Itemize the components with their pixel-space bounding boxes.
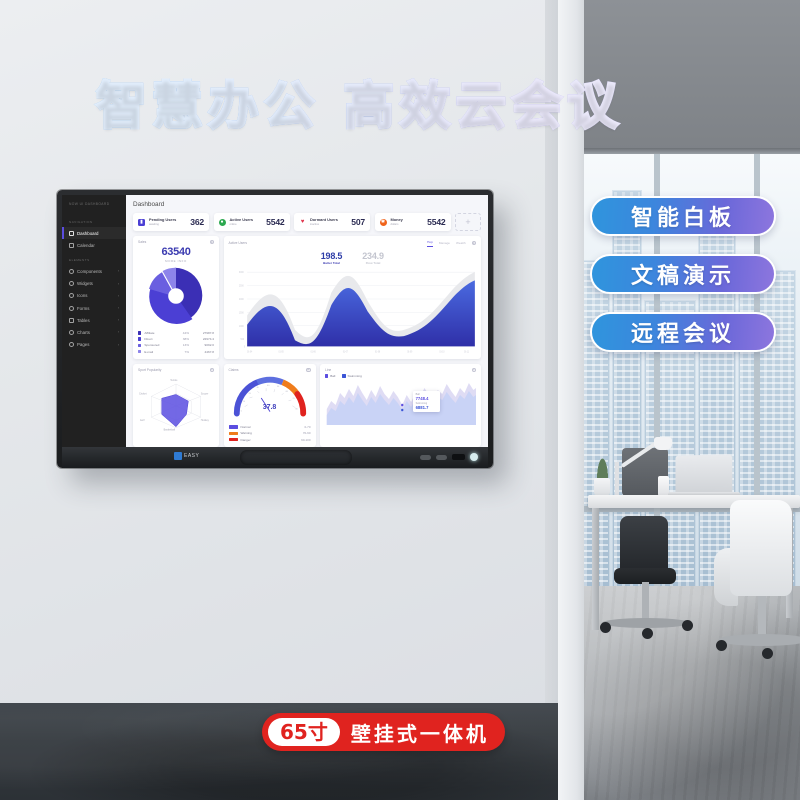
gear-icon[interactable] (210, 368, 214, 372)
power-led-icon[interactable] (470, 453, 478, 461)
gear-icon[interactable] (472, 368, 476, 372)
sidebar-item-widgets[interactable]: Widgets › (62, 278, 126, 290)
kpi-value: 198.5 (321, 251, 343, 261)
gear-icon[interactable] (210, 240, 214, 244)
gear-icon[interactable] (472, 241, 476, 245)
svg-text:01-10: 01-10 (439, 351, 445, 353)
legend-range: 90-100 (301, 438, 310, 442)
kpi-label: Butter Total (321, 261, 343, 265)
panel-title: Sales (138, 240, 146, 244)
feature-pill-label: 文稿演示 (631, 258, 735, 290)
svg-text:60: 60 (285, 391, 288, 393)
sidebar-item-calendar[interactable]: Calendar (62, 239, 126, 251)
coin-icon: ✱ (380, 219, 387, 226)
legend-label: Affiliate (144, 331, 173, 335)
donut-legend-table: Affiliate 44% 27987.8 Direct 38% 22974.4 (138, 330, 214, 355)
chevron-right-icon: › (118, 330, 119, 334)
sales-donut-panel: Sales 63540 MORE INFO (133, 236, 219, 359)
gauge-value: 37.8 (229, 404, 311, 411)
leaf-icon: ● (219, 219, 226, 226)
donut-center-label: MORE INFO (138, 259, 214, 263)
badge-size-label: 65寸 (268, 718, 340, 746)
sidebar-item-components[interactable]: Components › (62, 265, 126, 277)
stat-card-money[interactable]: ✱ Money dollars 5542 (375, 213, 451, 231)
sidebar-item-tables[interactable]: Tables › (62, 314, 126, 326)
panel-title: Sport Popularity (138, 368, 161, 372)
stat-sublabel: dollars (391, 223, 424, 227)
legend-label: Direct (144, 337, 173, 341)
chevron-right-icon: › (118, 343, 119, 347)
legend-label: Sponsored (144, 343, 173, 347)
legend-swatch (138, 344, 141, 347)
logo-text: EASY (184, 453, 199, 459)
chair-caster (762, 648, 773, 659)
chart-tooltip: Ball 7748.4 Swimming 6881.7 (413, 391, 440, 412)
grid-icon (69, 269, 74, 274)
add-card-button[interactable]: + (455, 213, 481, 231)
product-badge: 65寸 壁挂式一体机 (262, 713, 505, 751)
radar-axis-label: Cricket (139, 392, 147, 395)
tab-wealth[interactable]: Wealth (456, 241, 466, 247)
form-icon (69, 306, 74, 311)
sidebar-item-icons[interactable]: Icons › (62, 290, 126, 302)
stat-card-row: ▮ Pending Users awaiting 362 ● Active Us… (133, 213, 481, 231)
plant-pot (594, 478, 610, 496)
feature-pill-label: 远程会议 (631, 316, 735, 348)
stat-card-dormant-users[interactable]: ♥ Dormant Users inactive 507 (294, 213, 370, 231)
logo-mark-icon (174, 452, 182, 460)
chevron-right-icon: › (118, 282, 119, 286)
sidebar-item-label: Widgets (77, 281, 93, 286)
port-cluster (420, 453, 478, 461)
svg-text:2000: 2000 (238, 298, 243, 301)
legend-range: 0-70 (304, 425, 310, 429)
donut-chart (138, 266, 214, 326)
bookmark-icon: ▮ (138, 219, 145, 226)
heart-icon: ♥ (299, 219, 306, 226)
svg-text:01-04: 01-04 (247, 351, 253, 353)
office-chair-dark-post (642, 582, 649, 622)
area-kpi-row: 198.5 Butter Total 234.9 Flow Total (229, 251, 477, 265)
legend-row: Danger 90-100 (229, 436, 311, 442)
svg-text:10: 10 (242, 401, 245, 403)
line-legend: Ball Swimming (325, 374, 476, 378)
legend-label: Warning (241, 431, 300, 435)
panel-title: Line (325, 368, 331, 372)
office-chair-white-base (718, 634, 800, 646)
feature-pill-list: 智能白板 文稿演示 远程会议 (590, 196, 776, 370)
kpi-value: 234.9 (362, 251, 384, 261)
desk-lamp-head (654, 437, 672, 450)
gauge-legend: Normal 0-70 Warning 70-90 Danger 90-100 (229, 424, 311, 443)
page-headline: 智慧办公 高效云会议 (0, 66, 720, 138)
legend-percent: 44% (176, 331, 189, 335)
legend-label: Ball (330, 374, 335, 378)
sidebar-item-pages[interactable]: Pages › (62, 339, 126, 351)
line-chart-panel: Line Ball Swimming (320, 364, 481, 447)
stat-sublabel: inactive (310, 223, 347, 227)
svg-text:01-08: 01-08 (375, 351, 381, 353)
chevron-right-icon: › (118, 269, 119, 273)
sidebar-item-label: Icons (77, 293, 88, 298)
svg-text:01-11: 01-11 (464, 351, 470, 353)
sidebar-item-label: Calendar (77, 243, 95, 248)
radar-axis-label: Golf (140, 419, 145, 422)
stat-value: 507 (351, 217, 365, 227)
legend-amount: 22974.4 (192, 337, 214, 341)
charts-row-2: Sport Popularity (133, 364, 481, 447)
legend-amount: 9092.0 (192, 343, 214, 347)
office-chair-dark-base (602, 618, 690, 628)
svg-text:50: 50 (276, 386, 279, 388)
legend-percent: 38% (176, 337, 189, 341)
star-icon (69, 293, 74, 298)
sidebar-item-label: Dashboard (77, 231, 98, 236)
chevron-right-icon: › (118, 294, 119, 298)
radar-axis-label: Tennis (170, 379, 178, 382)
claims-gauge-panel: Claims (224, 364, 316, 447)
svg-text:01-09: 01-09 (407, 351, 413, 353)
sidebar-item-label: Components (77, 269, 102, 274)
legend-percent: 7% (176, 350, 189, 354)
area-chart-plot: 30002500 20001500 1000500 0 (229, 266, 477, 355)
svg-text:2500: 2500 (238, 284, 243, 287)
office-chair-dark-back (620, 516, 668, 574)
svg-text:70: 70 (292, 398, 295, 400)
widget-icon (69, 281, 74, 286)
gear-icon[interactable] (306, 368, 310, 372)
legend-swatch (229, 425, 238, 429)
chart-icon (69, 330, 74, 335)
sidebar-item-label: Pages (77, 342, 89, 347)
card-slot-icon (452, 454, 465, 460)
radar-axis-label: Hockey (201, 419, 210, 422)
legend-item-swimming[interactable]: Swimming (342, 374, 361, 378)
chevron-right-icon: › (118, 306, 119, 310)
calendar-icon (69, 243, 74, 248)
legend-swatch (229, 438, 238, 442)
svg-text:40: 40 (267, 385, 270, 387)
sidebar-item-charts[interactable]: Charts › (62, 326, 126, 338)
legend-amount: 27987.8 (192, 331, 214, 335)
svg-text:1000: 1000 (238, 325, 243, 328)
legend-row: E-mail 7% 4467.8 (138, 348, 214, 354)
legend-label: E-mail (144, 350, 173, 354)
dashboard-main: Dashboard ▮ Pending Users awaiting 362 ●… (126, 195, 488, 447)
charts-row-1: Sales 63540 MORE INFO (133, 236, 481, 359)
chair-caster (682, 620, 693, 631)
desk-lamp-post (615, 462, 619, 498)
panel-title: Claims (229, 368, 239, 372)
sidebar-item-label: Forms (77, 306, 89, 311)
chevron-right-icon: › (118, 318, 119, 322)
home-icon (69, 231, 74, 236)
tooltip-value: 6881.7 (416, 405, 438, 410)
panel-title: Active Users (229, 241, 248, 245)
hdmi-port-icon (420, 455, 431, 460)
feature-pill-label: 智能白板 (631, 200, 735, 232)
svg-text:500: 500 (240, 338, 244, 341)
radar-chart-plot: Tennis Soccer Hockey Basketball Golf Cri… (138, 374, 214, 437)
speaker-grille (240, 450, 352, 465)
stat-sublabel: awaiting (149, 223, 186, 227)
sidebar-item-label: Charts (77, 330, 90, 335)
kpi-flow-total: 234.9 Flow Total (362, 251, 384, 265)
stat-card-active-users[interactable]: ● Active Users online 5542 (214, 213, 290, 231)
line-chart-plot: Ball 7748.4 Swimming 6881.7 (325, 379, 476, 430)
dashboard-sidebar: NOW UI DASHBOARD NAVIGATION Dashboard Ca… (62, 195, 126, 447)
stat-card-pending-users[interactable]: ▮ Pending Users awaiting 362 (133, 213, 209, 231)
legend-swatch (229, 432, 238, 436)
svg-text:01-07: 01-07 (342, 351, 348, 353)
legend-swatch (325, 374, 328, 377)
legend-swatch (342, 374, 345, 377)
legend-amount: 4467.8 (192, 350, 214, 354)
badge-type-label: 壁挂式一体机 (351, 718, 489, 747)
stat-value: 5542 (427, 217, 445, 227)
active-users-area-panel: Active Users Hop Manage Wealth 198.5 But… (224, 236, 482, 359)
office-chair-white-back (730, 500, 792, 596)
tab-manage[interactable]: Manage (439, 241, 450, 247)
tooltip-value: 7748.4 (416, 396, 438, 401)
feature-pill-conference[interactable]: 远程会议 (590, 312, 776, 352)
page-title: Dashboard (133, 201, 481, 208)
sidebar-item-forms[interactable]: Forms › (62, 302, 126, 314)
brand-logo: EASY (174, 452, 199, 460)
wall-mounted-display: NOW UI DASHBOARD NAVIGATION Dashboard Ca… (57, 190, 493, 468)
sidebar-item-label: Tables (77, 318, 90, 323)
chair-caster (600, 622, 611, 633)
legend-item-ball[interactable]: Ball (325, 374, 335, 378)
stat-sublabel: online (230, 223, 263, 227)
usb-port-icon (436, 455, 447, 460)
radar-axis-label: Soccer (201, 392, 209, 395)
chair-caster (716, 640, 727, 651)
legend-range: 70-90 (303, 431, 311, 435)
legend-swatch (138, 350, 141, 353)
sidebar-brand: NOW UI DASHBOARD (62, 202, 126, 213)
svg-text:01-05: 01-05 (278, 351, 284, 353)
feature-pill-presentation[interactable]: 文稿演示 (590, 254, 776, 294)
legend-swatch (138, 331, 141, 334)
kpi-label: Flow Total (362, 261, 384, 265)
chair-caster (642, 628, 653, 639)
svg-text:0: 0 (243, 345, 245, 348)
donut-center-value: 63540 (138, 246, 214, 258)
sidebar-section-title: NAVIGATION (62, 213, 126, 227)
legend-label: Swimming (348, 374, 362, 378)
sidebar-section-title: ELEMENTS (62, 251, 126, 265)
tab-hop[interactable]: Hop (427, 240, 433, 247)
svg-text:3000: 3000 (238, 271, 243, 274)
desk-leg (592, 508, 599, 630)
display-screen[interactable]: NOW UI DASHBOARD NAVIGATION Dashboard Ca… (62, 195, 488, 447)
table-icon (69, 318, 74, 323)
gauge-chart-plot: 01020 304050 607080 37.8 (229, 374, 311, 423)
radar-axis-label: Basketball (164, 429, 176, 432)
legend-percent: 13% (176, 343, 189, 347)
feature-pill-whiteboard[interactable]: 智能白板 (590, 196, 776, 236)
display-bottom-bezel: EASY (62, 447, 488, 468)
stat-value: 362 (190, 217, 204, 227)
legend-label: Danger (241, 438, 299, 442)
legend-swatch (138, 337, 141, 340)
stat-value: 5542 (266, 217, 284, 227)
sport-popularity-panel: Sport Popularity (133, 364, 219, 447)
svg-text:1500: 1500 (238, 311, 243, 314)
legend-label: Normal (241, 425, 302, 429)
laptop-screen (675, 454, 732, 495)
svg-text:20: 20 (248, 393, 251, 395)
pages-icon (69, 342, 74, 347)
svg-text:01-06: 01-06 (310, 351, 316, 353)
kpi-butter-total: 198.5 Butter Total (321, 251, 343, 265)
sidebar-item-dashboard[interactable]: Dashboard (62, 227, 126, 239)
svg-text:30: 30 (256, 387, 259, 389)
